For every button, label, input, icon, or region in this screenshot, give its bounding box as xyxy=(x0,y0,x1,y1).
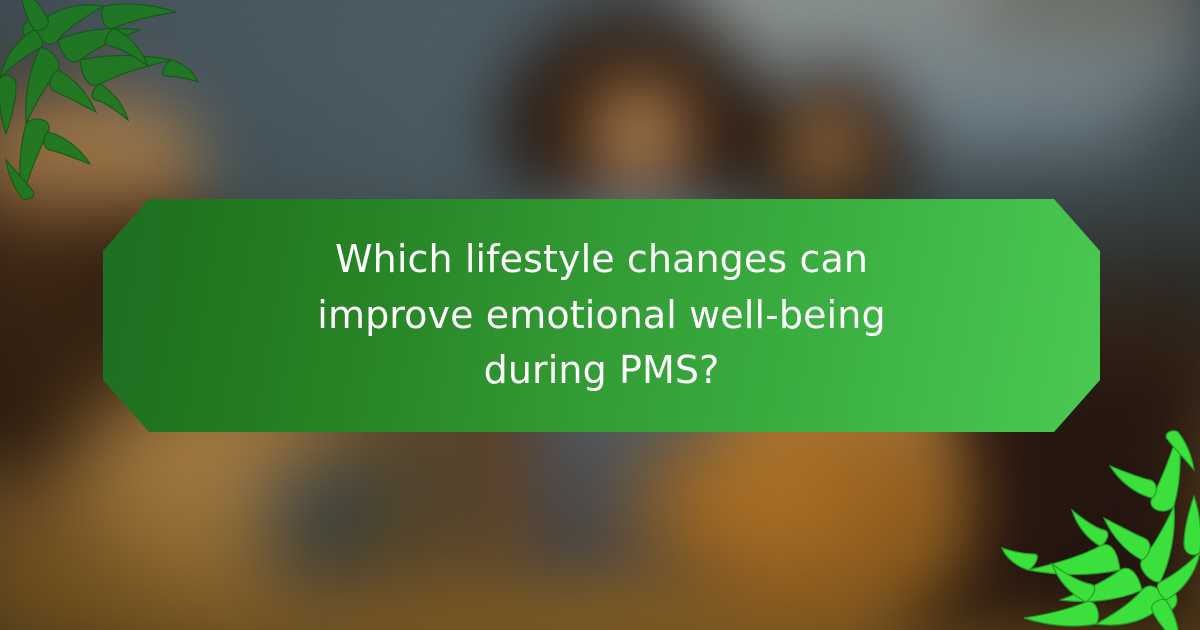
share-card-canvas: Which lifestyle changes can improve emot… xyxy=(0,0,1200,630)
question-text: Which lifestyle changes can improve emot… xyxy=(262,232,942,400)
question-banner: Which lifestyle changes can improve emot… xyxy=(103,199,1100,432)
